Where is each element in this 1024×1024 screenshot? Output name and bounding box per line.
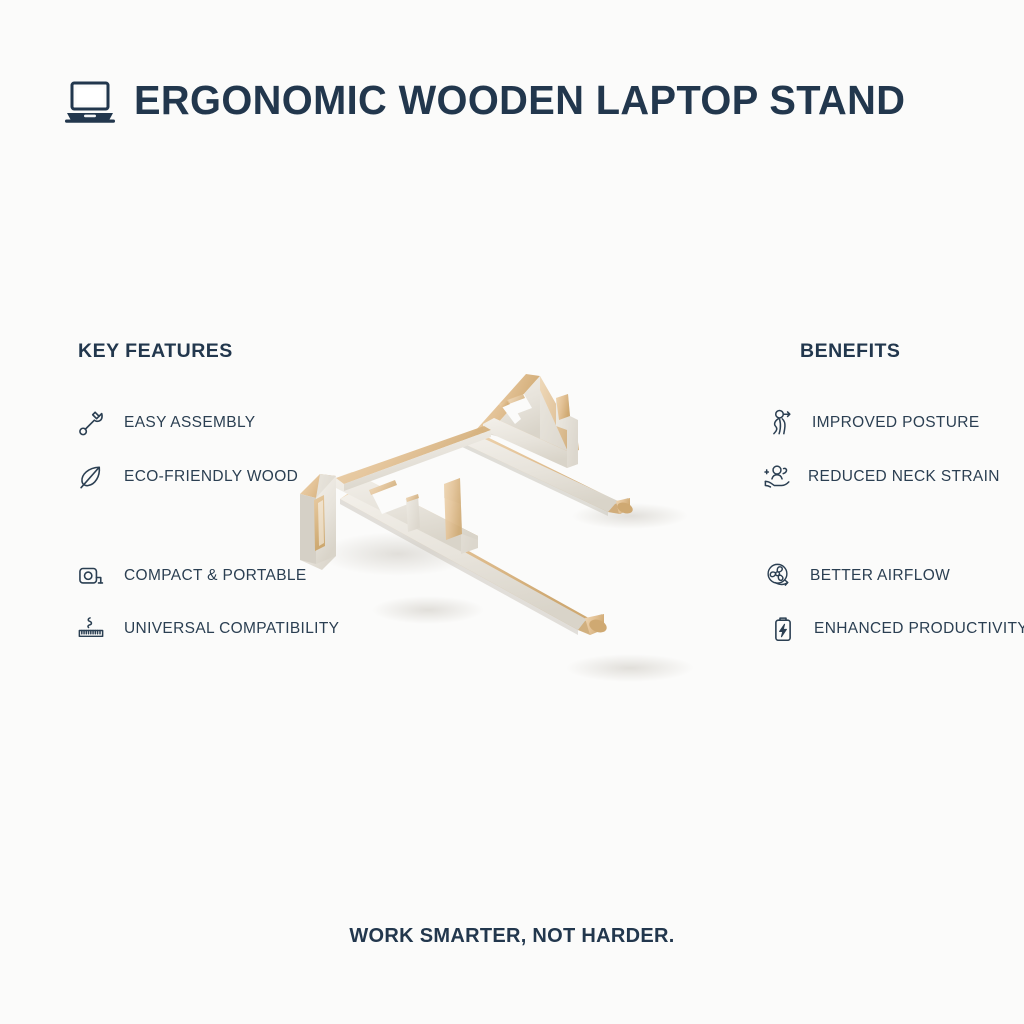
cross-rail: [336, 426, 491, 491]
benefit-label: IMPROVED POSTURE: [812, 415, 980, 431]
tape-measure-icon: [76, 561, 106, 591]
laptop-icon: [64, 80, 116, 124]
footer-tagline: WORK SMARTER, NOT HARDER.: [0, 925, 1024, 948]
benefit-item-better-airflow: BETTER AIRFLOW: [764, 561, 950, 591]
feature-label: EASY ASSEMBLY: [124, 415, 256, 431]
fan-airflow-icon: [764, 561, 794, 591]
benefit-item-enhanced-productivity: ENHANCED PRODUCTIVITY: [768, 614, 1024, 644]
poster-canvas: ERGONOMIC WOODEN LAPTOP STAND KEY FEATUR…: [0, 0, 1024, 1024]
ruler-icon: [76, 614, 106, 644]
leaf-icon: [76, 462, 106, 492]
battery-bolt-icon: [768, 614, 798, 644]
wrench-icon: [76, 408, 106, 438]
stand-illustration: [278, 338, 768, 703]
feature-label: ECO-FRIENDLY WOOD: [124, 469, 298, 485]
benefit-label: BETTER AIRFLOW: [810, 568, 950, 584]
feature-item-eco-friendly-wood: ECO-FRIENDLY WOOD: [76, 462, 298, 492]
benefit-item-reduced-neck-strain: REDUCED NECK STRAIN: [762, 462, 1000, 492]
near-panel-upright: [300, 474, 336, 570]
wooden-laptop-stand-photo: [278, 338, 768, 703]
benefit-item-improved-posture: IMPROVED POSTURE: [766, 408, 980, 438]
feature-item-compact-portable: COMPACT & PORTABLE: [76, 561, 307, 591]
benefit-label: REDUCED NECK STRAIN: [808, 469, 1000, 485]
posture-person-icon: [766, 408, 796, 438]
key-features-heading: KEY FEATURES: [78, 340, 233, 363]
feature-item-easy-assembly: EASY ASSEMBLY: [76, 408, 256, 438]
benefits-heading: BENEFITS: [800, 340, 900, 363]
page-header: ERGONOMIC WOODEN LAPTOP STAND: [64, 76, 929, 124]
page-title: ERGONOMIC WOODEN LAPTOP STAND: [134, 80, 905, 121]
benefit-label: ENHANCED PRODUCTIVITY: [814, 621, 1024, 637]
